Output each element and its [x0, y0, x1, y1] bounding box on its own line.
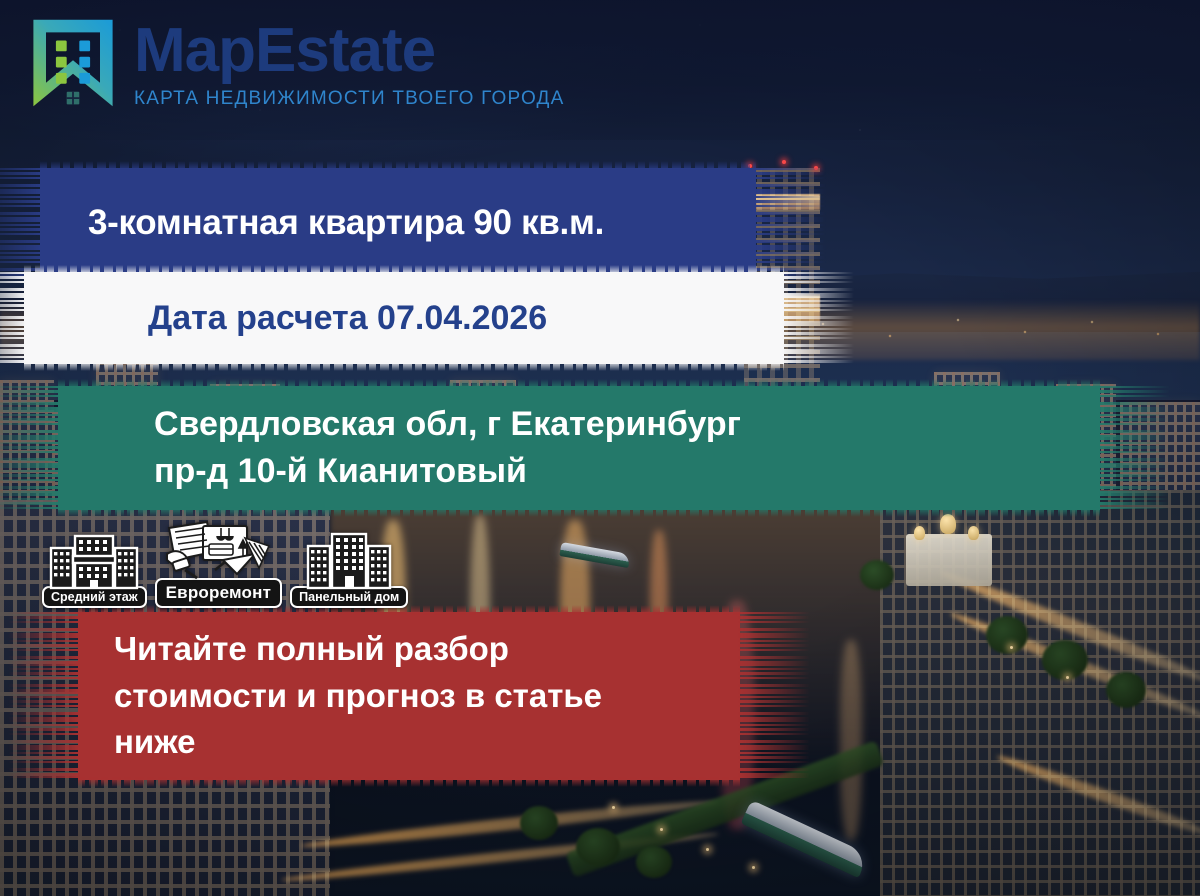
cta-line-3: ниже [114, 719, 740, 766]
date-text: Дата расчета 07.04.2026 [24, 299, 784, 338]
date-banner: Дата расчета 07.04.2026 [24, 272, 784, 364]
renovation-tools-icon [163, 518, 273, 584]
panel-house-icon [300, 530, 398, 592]
brand-title: MapEstate [134, 20, 564, 82]
headline-text: 3-комнатная квартира 90 кв.м. [40, 203, 756, 243]
header-bar: MapEstate КАРТА НЕДВИЖИМОСТИ ТВОЕГО ГОРО… [0, 0, 1200, 140]
brand-logo[interactable]: MapEstate КАРТА НЕДВИЖИМОСТИ ТВОЕГО ГОРО… [28, 16, 564, 110]
address-banner: Свердловская обл, г Екатеринбург пр-д 10… [58, 386, 1100, 510]
address-line-2: пр-д 10-й Кианитовый [154, 448, 1100, 495]
bookmark-building-icon [28, 16, 118, 110]
badge-mid-floor[interactable]: Средний этаж [42, 530, 147, 608]
cta-line-2: стоимости и прогноз в статье [114, 673, 740, 720]
mid-floor-building-icon [45, 530, 143, 592]
feature-badges: Средний этаж [42, 518, 408, 608]
badge-renovation[interactable]: Евроремонт [155, 518, 283, 608]
cta-banner: Читайте полный разбор стоимости и прогно… [78, 612, 740, 780]
promo-card: MapEstate КАРТА НЕДВИЖИМОСТИ ТВОЕГО ГОРО… [0, 0, 1200, 896]
badge-panel-house[interactable]: Панельный дом [290, 530, 408, 608]
headline-banner: 3-комнатная квартира 90 кв.м. [40, 168, 756, 278]
address-line-1: Свердловская обл, г Екатеринбург [154, 401, 1100, 448]
cta-line-1: Читайте полный разбор [114, 626, 740, 673]
brand-tagline: КАРТА НЕДВИЖИМОСТИ ТВОЕГО ГОРОДА [134, 88, 564, 110]
